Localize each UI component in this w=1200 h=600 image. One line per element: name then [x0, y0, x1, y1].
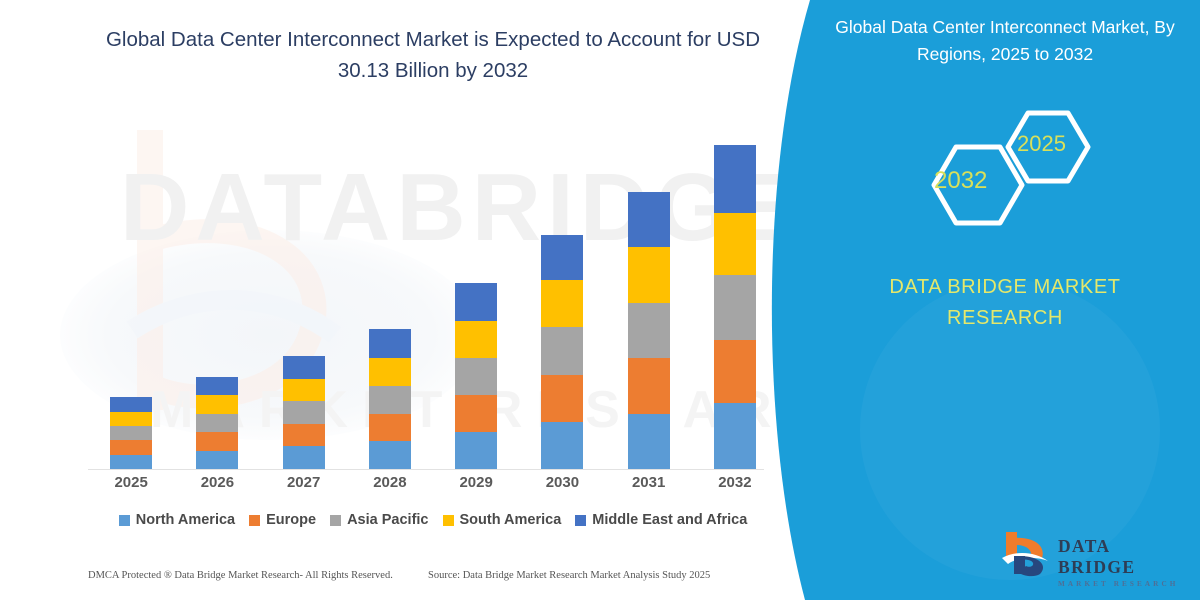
- x-axis-label: 2030: [520, 474, 604, 491]
- bar-segment: [455, 395, 497, 432]
- bar-column: [693, 120, 777, 469]
- bar-segment: [714, 340, 756, 404]
- bar-segment: [283, 424, 325, 447]
- x-axis-label: 2028: [348, 474, 432, 491]
- x-axis-label: 2025: [89, 474, 173, 491]
- bar-segment: [714, 145, 756, 214]
- bar-segment: [283, 446, 325, 469]
- bar-segment: [628, 192, 670, 247]
- footer: DMCA Protected ® Data Bridge Market Rese…: [0, 566, 810, 600]
- bar-segment: [110, 397, 152, 411]
- bar-segment: [714, 213, 756, 275]
- x-axis-label: 2027: [262, 474, 346, 491]
- bar-segment: [455, 432, 497, 469]
- legend-item[interactable]: Asia Pacific: [330, 512, 428, 528]
- bar-column: [348, 120, 432, 469]
- bar-segment: [628, 414, 670, 469]
- legend-label: South America: [460, 512, 562, 528]
- legend-label: North America: [136, 512, 235, 528]
- stacked-bar: [110, 397, 152, 469]
- hexagon-2025-label: 2025: [1017, 131, 1066, 157]
- brand-line-1: DATA BRIDGE MARKET: [830, 272, 1180, 303]
- bar-segment: [628, 303, 670, 358]
- hexagon-2032-label: 2032: [934, 167, 987, 195]
- bar-segment: [455, 358, 497, 395]
- bar-segment: [196, 451, 238, 469]
- bar-segment: [541, 422, 583, 469]
- bar-segment: [628, 358, 670, 413]
- footer-source: Source: Data Bridge Market Research Mark…: [428, 570, 710, 581]
- bar-segment: [110, 426, 152, 440]
- bar-segment: [369, 358, 411, 386]
- right-panel-content: Global Data Center Interconnect Market, …: [810, 0, 1200, 600]
- bar-column: [607, 120, 691, 469]
- infographic-root: DATABRIDGE MARKET RESEARCH Global Data C…: [0, 0, 1200, 600]
- legend-swatch-icon: [330, 515, 341, 526]
- footer-copyright: DMCA Protected ® Data Bridge Market Rese…: [88, 570, 393, 581]
- bar-segment: [369, 329, 411, 358]
- hexagon-group: 2032 2025: [900, 105, 1130, 230]
- bar-segment: [196, 377, 238, 395]
- x-axis-labels: 20252026202720282029203020312032: [88, 474, 778, 491]
- legend-item[interactable]: North America: [119, 512, 235, 528]
- bar-segment: [541, 235, 583, 280]
- bar-segment: [369, 414, 411, 442]
- bar-segment: [455, 283, 497, 321]
- legend-swatch-icon: [443, 515, 454, 526]
- bar-segment: [196, 414, 238, 432]
- stacked-bar: [714, 145, 756, 469]
- right-panel-title: Global Data Center Interconnect Market, …: [820, 14, 1190, 68]
- legend-swatch-icon: [249, 515, 260, 526]
- bar-column: [175, 120, 259, 469]
- bar-segment: [541, 375, 583, 422]
- x-axis-line: [88, 469, 764, 470]
- bar-segment: [541, 280, 583, 327]
- logo-line-2: MARKET RESEARCH: [1058, 580, 1180, 588]
- bar-segment: [283, 379, 325, 402]
- x-axis-label: 2026: [175, 474, 259, 491]
- logo-text: DATA BRIDGE MARKET RESEARCH: [1058, 536, 1180, 588]
- bar-segment: [714, 275, 756, 340]
- legend-swatch-icon: [575, 515, 586, 526]
- page-title: Global Data Center Interconnect Market i…: [88, 24, 778, 86]
- logo-line-1: DATA BRIDGE: [1058, 536, 1180, 578]
- bar-segment: [196, 395, 238, 413]
- legend-item[interactable]: Europe: [249, 512, 316, 528]
- bar-segment: [714, 403, 756, 469]
- bar-column: [434, 120, 518, 469]
- legend-label: Asia Pacific: [347, 512, 428, 528]
- chart-legend: North AmericaEuropeAsia PacificSouth Ame…: [88, 512, 778, 528]
- bar-column: [520, 120, 604, 469]
- bar-group: [88, 120, 778, 469]
- bar-segment: [628, 247, 670, 302]
- bar-segment: [283, 356, 325, 379]
- stacked-bar: [196, 377, 238, 469]
- legend-item[interactable]: South America: [443, 512, 562, 528]
- x-axis-label: 2032: [693, 474, 777, 491]
- legend-item[interactable]: Middle East and Africa: [575, 512, 747, 528]
- bar-column: [262, 120, 346, 469]
- brand-name: DATA BRIDGE MARKET RESEARCH: [830, 272, 1180, 334]
- data-bridge-mark-icon: [1000, 528, 1054, 578]
- bar-segment: [541, 327, 583, 374]
- bar-segment: [369, 441, 411, 469]
- legend-label: Middle East and Africa: [592, 512, 747, 528]
- stacked-bar: [455, 283, 497, 469]
- bar-segment: [455, 321, 497, 358]
- bar-segment: [110, 455, 152, 469]
- bar-segment: [110, 412, 152, 426]
- legend-label: Europe: [266, 512, 316, 528]
- bar-column: [89, 120, 173, 469]
- legend-swatch-icon: [119, 515, 130, 526]
- company-logo: DATA BRIDGE MARKET RESEARCH: [1000, 528, 1180, 584]
- bar-segment: [196, 432, 238, 450]
- x-axis-label: 2031: [607, 474, 691, 491]
- bar-segment: [283, 401, 325, 424]
- stacked-bar: [283, 356, 325, 469]
- stacked-bar: [628, 192, 670, 469]
- brand-line-2: RESEARCH: [830, 303, 1180, 334]
- bar-segment: [110, 440, 152, 454]
- bar-segment: [369, 386, 411, 414]
- chart-pane: DATABRIDGE MARKET RESEARCH Global Data C…: [0, 0, 810, 600]
- x-axis-label: 2029: [434, 474, 518, 491]
- stacked-bar: [541, 235, 583, 469]
- stacked-bar: [369, 329, 411, 469]
